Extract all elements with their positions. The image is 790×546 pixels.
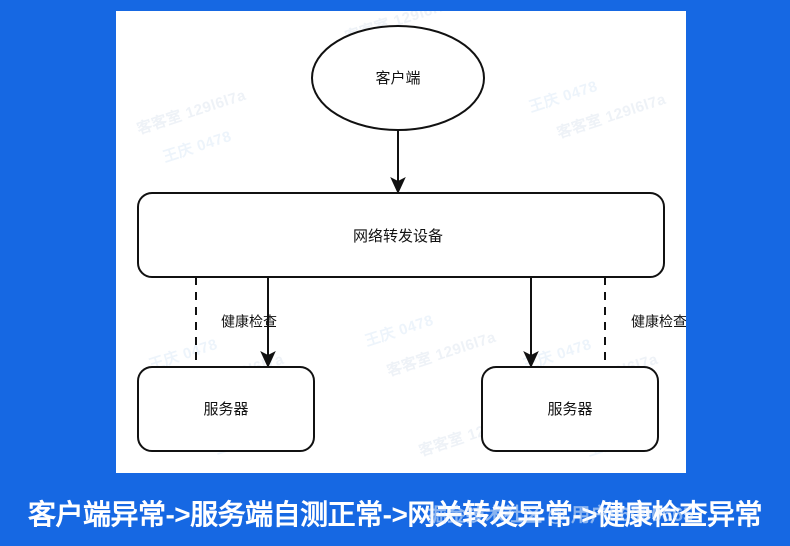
node-server1-label: 服务器 [203,401,248,418]
caption-area: 客户端异常->服务端自测正常->网关转发异常->健康检查异常 [0,473,790,546]
node-gateway-label: 网络转发设备 [353,228,443,245]
edge-label-health-check-right: 健康检查 [631,314,686,330]
node-server2-label: 服务器 [547,401,592,418]
node-server2[interactable]: 服务器 [482,367,658,451]
flowchart-svg: 客户端 网络转发设备 健康检查 健康检查 服务器 [116,11,686,473]
node-gateway[interactable]: 网络转发设备 [138,193,664,277]
edge-label-health-check-left: 健康检查 [221,314,277,330]
node-client[interactable]: 客户端 [312,26,484,130]
caption-text: 客户端异常->服务端自测正常->网关转发异常->健康检查异常 [0,493,790,533]
node-server1[interactable]: 服务器 [138,367,314,451]
screenshot-root: 客客室 129l6l7a 王庆 0478 客客室 129l6l7a 王庆 047… [0,0,790,546]
node-client-label: 客户端 [375,70,420,87]
diagram-panel: 客客室 129l6l7a 王庆 0478 客客室 129l6l7a 王庆 047… [116,11,686,473]
